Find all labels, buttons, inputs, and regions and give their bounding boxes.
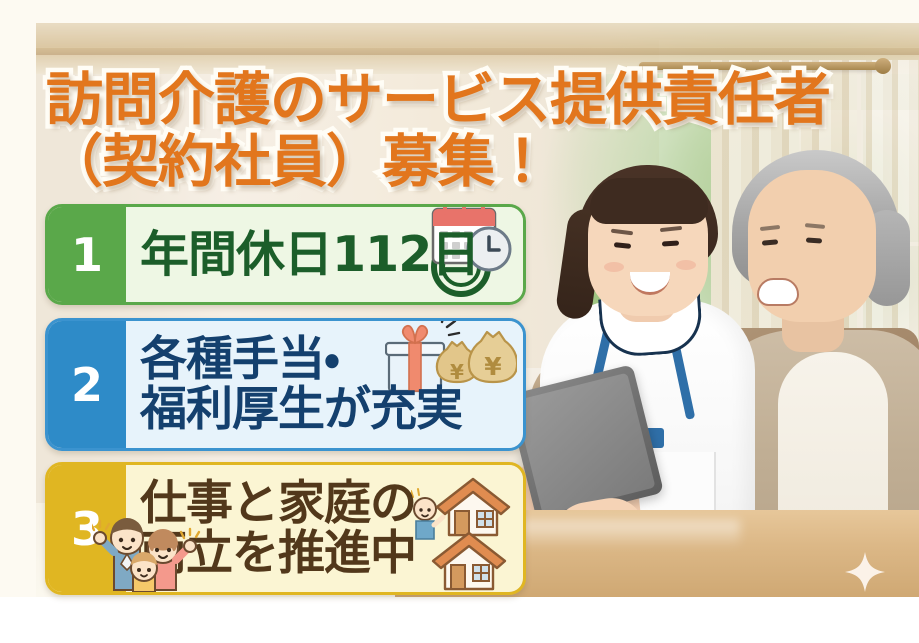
svg-text:¥: ¥: [484, 352, 502, 381]
feature-item-3[interactable]: 3 仕事と家庭の 両立を推進中: [45, 462, 526, 595]
elderly-woman-mouth: [757, 278, 799, 306]
frame-margin-left: [0, 0, 36, 643]
feature-2-text-line-2: 福利厚生が充実: [140, 386, 462, 434]
house-icon-group: [411, 469, 519, 593]
page-title: 訪問介護のサービス提供責任者 （契約社員）募集！: [46, 70, 896, 193]
page-title-line-1: 訪問介護のサービス提供責任者: [46, 70, 896, 132]
house-icon: [437, 479, 509, 535]
feature-1-body: 年間休日112日: [126, 207, 523, 302]
feature-item-1[interactable]: 1 年間休日112日: [45, 204, 526, 305]
page-title-line-2: （契約社員）募集！: [46, 132, 896, 194]
caregiver-cheek-left: [604, 262, 624, 272]
money-bag-icon: ¥: [469, 332, 517, 382]
house-icon: [433, 533, 505, 589]
poster-root: 訪問介護のサービス提供責任者 （契約社員）募集！ 1 年間休日112日: [0, 0, 919, 643]
feature-2-body: 各種手当・ 福利厚生が充実: [126, 321, 523, 448]
feature-item-2[interactable]: 2 各種手当・ 福利厚生が充実: [45, 318, 526, 451]
feature-2-number: 2: [48, 321, 126, 448]
feature-1-number: 1: [48, 207, 126, 302]
caregiver-cheek-right: [676, 260, 696, 270]
child-figure: [131, 552, 157, 592]
feature-2-text-line-1: 各種手当・: [140, 336, 462, 384]
elderly-woman-eye-right: [806, 237, 822, 243]
sparkle-icon: [845, 552, 885, 592]
family-icon: [92, 516, 202, 594]
frame-margin-bottom: [0, 597, 919, 643]
frame-margin-top: [0, 0, 919, 23]
feature-1-text-line-1: 年間休日112日: [140, 230, 479, 280]
